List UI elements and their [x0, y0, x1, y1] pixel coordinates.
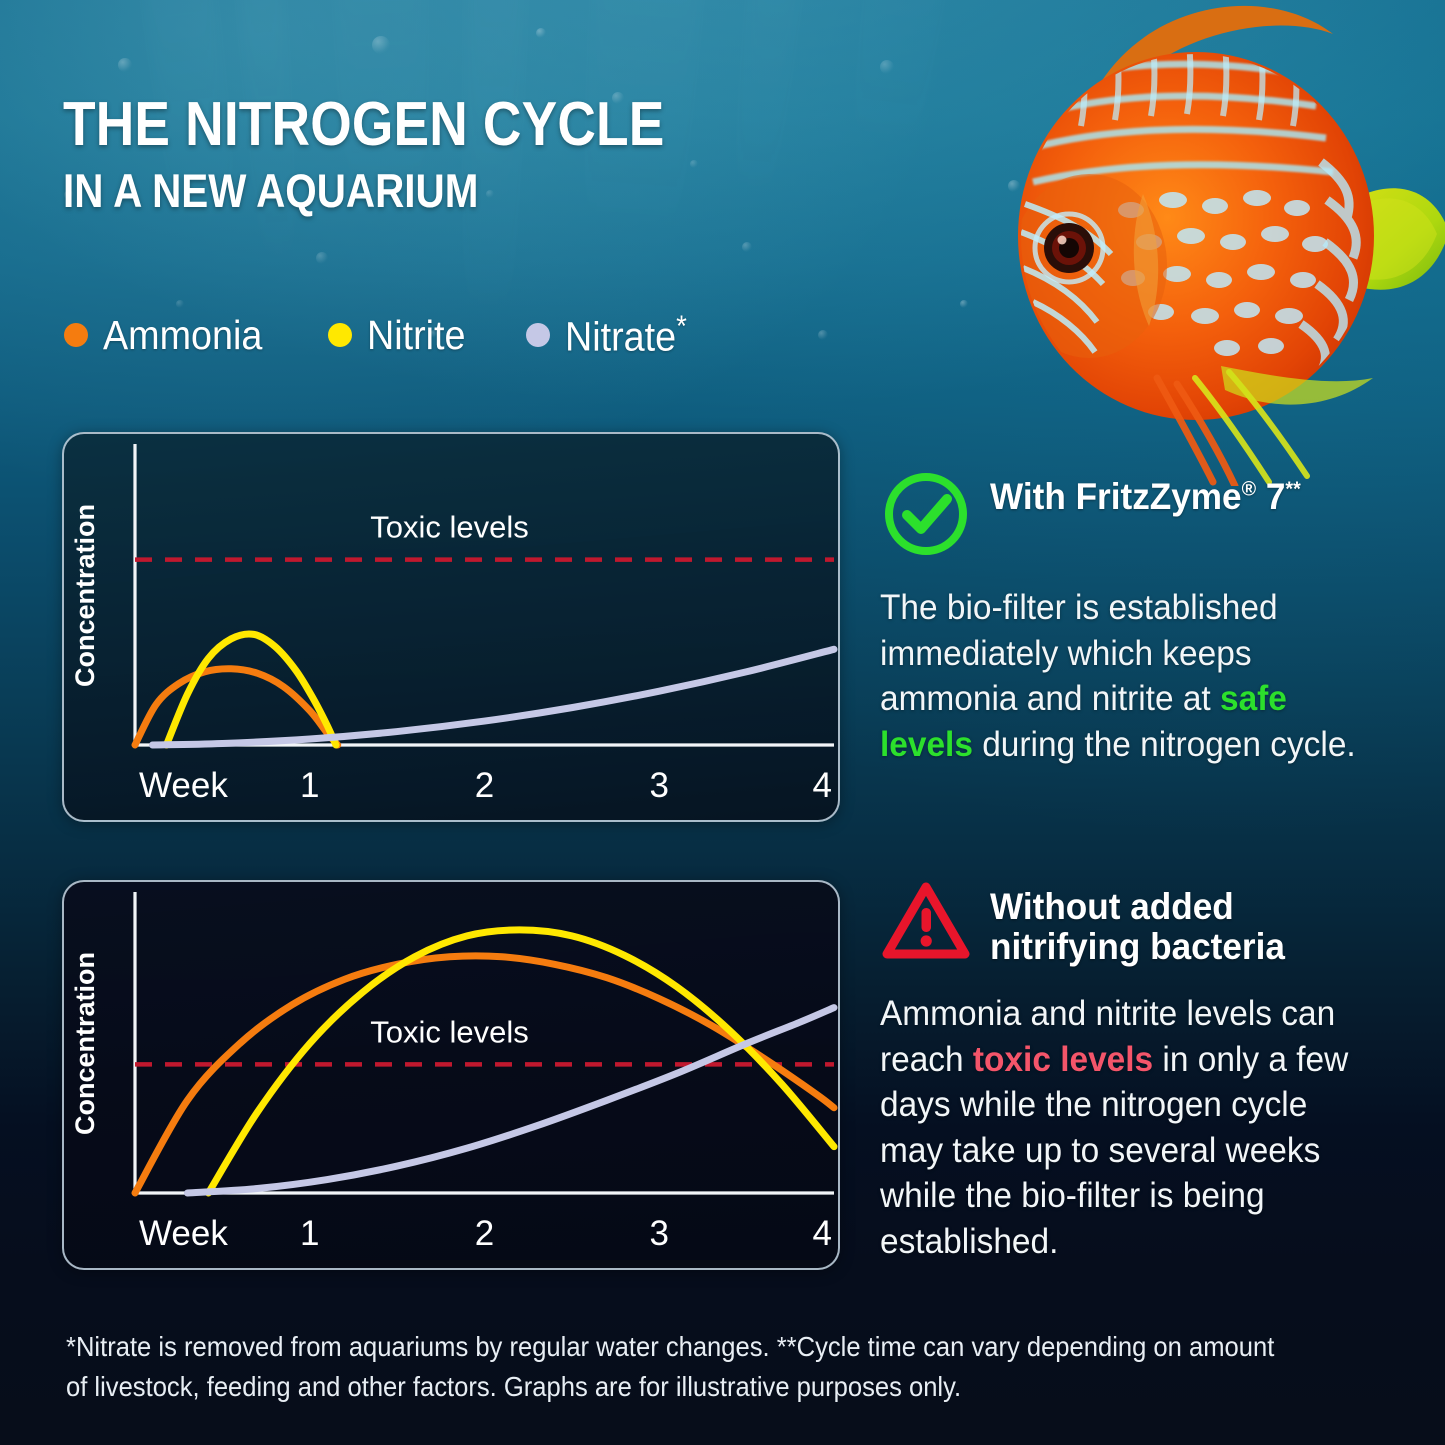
body-text-2: during the nitrogen cycle.	[973, 725, 1356, 764]
discus-fish-image	[981, 0, 1445, 486]
highlight-toxic-levels: toxic levels	[973, 1040, 1153, 1079]
chart-svg: ConcentrationToxic levelsWeek1234	[64, 434, 838, 820]
legend-item-ammonia: Ammonia	[64, 312, 276, 359]
double-asterisk: **	[1285, 478, 1300, 501]
legend-footnote-marker: *	[676, 310, 687, 343]
legend-label-nitrate: Nitrate*	[565, 310, 687, 361]
x-tick-label-1: 1	[300, 766, 319, 805]
x-tick-label-3: 3	[650, 766, 669, 805]
series-curve-ammonia	[135, 669, 338, 745]
legend-label-nitrite: Nitrite	[367, 312, 466, 359]
x-tick-label-3: 3	[650, 1214, 669, 1253]
series-curve-nitrite	[166, 634, 336, 745]
series-curve-nitrite	[208, 930, 834, 1193]
heading-main: With FritzZyme	[990, 476, 1242, 517]
registered-mark: ®	[1242, 478, 1257, 501]
info-block-body: The bio-filter is established immediatel…	[880, 585, 1358, 767]
series-curve-nitrate	[152, 649, 834, 745]
series-curve-ammonia	[135, 956, 834, 1193]
check-circle-icon	[880, 468, 972, 565]
legend-dot-nitrite	[328, 323, 352, 347]
info-block-heading-text: With FritzZyme® 7**	[990, 468, 1301, 517]
body-text-1: The bio-filter is established immediatel…	[880, 588, 1278, 718]
x-tick-label-2: 2	[475, 1214, 494, 1253]
warning-triangle-icon	[880, 878, 972, 969]
info-block-body: Ammonia and nitrite levels can reach tox…	[880, 991, 1362, 1264]
info-block-heading-row: With FritzZyme® 7**	[880, 468, 1380, 565]
title-line-1: THE NITROGEN CYCLE	[63, 95, 664, 155]
series-legend: Ammonia Nitrite Nitrate*	[64, 310, 698, 361]
info-block-heading-row: Without added nitrifying bacteria	[880, 878, 1385, 969]
title-line-2: IN A NEW AQUARIUM	[63, 167, 664, 215]
infographic-canvas: THE NITROGEN CYCLE IN A NEW AQUARIUM Amm…	[0, 0, 1445, 1445]
y-axis-label: Concentration	[70, 504, 100, 687]
toxic-level-annotation: Toxic levels	[370, 1014, 529, 1049]
legend-item-nitrite: Nitrite	[328, 312, 474, 359]
x-tick-label-4: 4	[813, 766, 832, 805]
info-block-with-fritzzyme: With FritzZyme® 7** The bio-filter is es…	[880, 468, 1380, 767]
chart-panel-with-fritzzyme: ConcentrationToxic levelsWeek1234	[62, 432, 840, 822]
page-title: THE NITROGEN CYCLE IN A NEW AQUARIUM	[63, 95, 762, 214]
chart-svg: ConcentrationToxic levelsWeek1234	[64, 882, 838, 1268]
info-block-without-bacteria: Without added nitrifying bacteria Ammoni…	[880, 878, 1385, 1264]
x-tick-label-1: 1	[300, 1214, 319, 1253]
x-tick-label-2: 2	[475, 766, 494, 805]
legend-label-ammonia: Ammonia	[103, 312, 262, 359]
x-tick-label-4: 4	[813, 1214, 832, 1253]
legend-item-nitrate: Nitrate*	[526, 310, 697, 361]
info-block-heading-text: Without added nitrifying bacteria	[990, 878, 1365, 966]
legend-dot-nitrate	[526, 323, 550, 347]
y-axis-label: Concentration	[70, 952, 100, 1135]
x-tick-label-0: Week	[139, 766, 228, 805]
x-tick-label-0: Week	[139, 1214, 228, 1253]
legend-dot-ammonia	[64, 323, 88, 347]
heading-tail: 7	[1256, 476, 1285, 517]
footnote-text: *Nitrate is removed from aquariums by re…	[66, 1327, 1289, 1407]
chart-panel-without-bacteria: ConcentrationToxic levelsWeek1234	[62, 880, 840, 1270]
toxic-level-annotation: Toxic levels	[370, 510, 529, 545]
